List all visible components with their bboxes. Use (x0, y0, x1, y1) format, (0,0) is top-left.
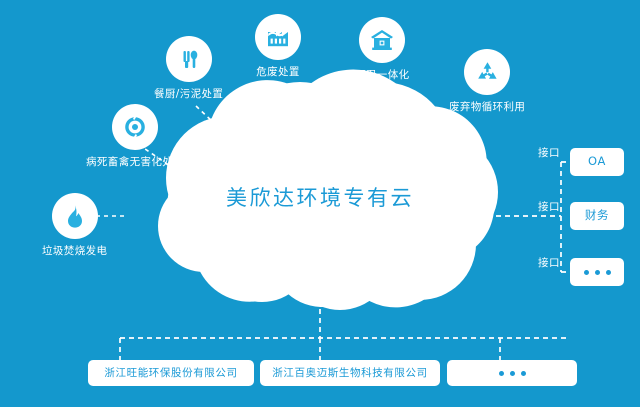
subsidiary-label: 浙江百奥迈斯生物科技有限公司 (272, 368, 427, 379)
service-node-canchu[interactable]: 餐厨/污泥处置 (154, 36, 223, 100)
service-node-weifei[interactable]: 危废处置 (255, 14, 301, 78)
interface-label-finance: 接口 (538, 202, 560, 213)
subsidiary-label: 浙江旺能环保股份有限公司 (104, 368, 237, 379)
diagram-canvas: 美欣达环境专有云 餐厨/污泥处置 (0, 0, 640, 407)
system-box-label: 财务 (585, 210, 609, 222)
recycle-icon (464, 49, 510, 95)
service-label: 垃圾焚烧发电 (42, 246, 107, 257)
service-node-feiqiwu[interactable]: 废弃物循环利用 (449, 49, 525, 113)
factory-icon (255, 14, 301, 60)
service-node-laji[interactable]: 垃圾焚烧发电 (42, 193, 107, 257)
ellipsis-dots (499, 371, 526, 376)
system-box-label: OA (588, 156, 606, 168)
flame-icon (52, 193, 98, 239)
subsidiary-box-3[interactable] (447, 360, 577, 386)
system-box-oa[interactable]: OA (570, 148, 624, 176)
service-node-huanwei[interactable]: 环卫一体化 (355, 17, 410, 81)
building-icon (359, 17, 405, 63)
system-box-more[interactable] (570, 258, 624, 286)
service-label: 危废处置 (256, 67, 300, 78)
biohazard-cycle-icon (112, 104, 158, 150)
interface-label-more: 接口 (538, 258, 560, 269)
subsidiary-box-2[interactable]: 浙江百奥迈斯生物科技有限公司 (260, 360, 440, 386)
utensils-icon (166, 36, 212, 82)
system-box-finance[interactable]: 财务 (570, 202, 624, 230)
interface-label-oa: 接口 (538, 148, 560, 159)
service-label: 病死畜禽无害化处置 (86, 157, 184, 168)
ellipsis-dots (584, 270, 611, 275)
subsidiary-box-1[interactable]: 浙江旺能环保股份有限公司 (88, 360, 254, 386)
service-node-bingsi[interactable]: 病死畜禽无害化处置 (86, 104, 184, 168)
service-label: 餐厨/污泥处置 (154, 89, 223, 100)
service-label: 废弃物循环利用 (449, 102, 525, 113)
service-label: 环卫一体化 (355, 70, 410, 81)
